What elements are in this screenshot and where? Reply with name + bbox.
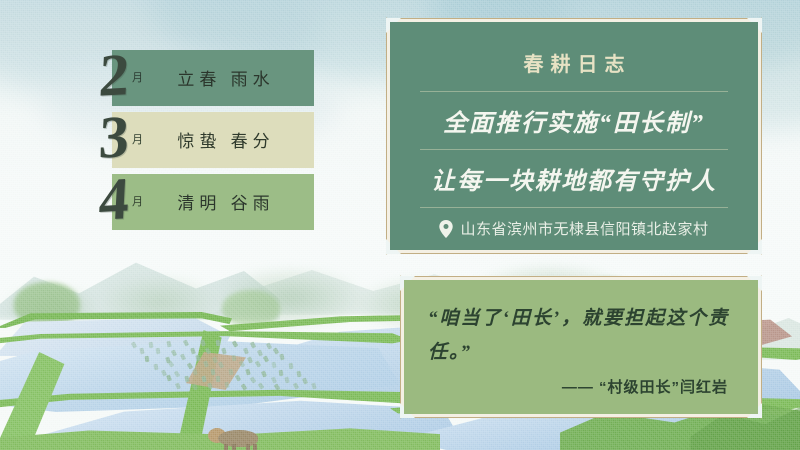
calendar-row[interactable]: 2 月 立春 雨水 xyxy=(84,50,314,106)
calendar-solar-terms: 清明 谷雨 xyxy=(168,189,284,214)
calendar-row[interactable]: 3 月 惊蛰 春分 xyxy=(84,112,314,168)
log-card-title: 春耕日志 xyxy=(418,48,730,77)
calendar-row[interactable]: 4 月 清明 谷雨 xyxy=(84,174,314,230)
ox-icon xyxy=(208,424,264,450)
poster-canvas: 2 月 立春 雨水 3 月 惊蛰 春分 4 月 清明 谷雨 春耕日志 xyxy=(0,0,800,450)
calendar-month-unit: 月 xyxy=(132,131,143,147)
calendar-month-unit: 月 xyxy=(132,193,143,209)
rice-seedlings xyxy=(130,340,310,396)
log-card-line-2: 让每一块耕地都有守护人 xyxy=(418,150,730,207)
log-card-inner: 春耕日志 全面推行实施“田长制” 让每一块耕地都有守护人 山东省滨州市无棣县信阳… xyxy=(390,22,758,250)
quote-card: “咱当了‘田长’，就要担起这个责任。” —— “村级田长”闫红岩 xyxy=(400,276,762,418)
quote-card-inner: “咱当了‘田长’，就要担起这个责任。” —— “村级田长”闫红岩 xyxy=(404,280,758,414)
quote-attribution: —— “村级田长”闫红岩 xyxy=(428,376,732,397)
log-card-location-text: 山东省滨州市无棣县信阳镇北赵家村 xyxy=(460,218,708,239)
quote-text: “咱当了‘田长’，就要担起这个责任。” xyxy=(428,302,732,370)
log-card-location-row: 山东省滨州市无棣县信阳镇北赵家村 xyxy=(418,208,730,243)
calendar-strip-list: 2 月 立春 雨水 3 月 惊蛰 春分 4 月 清明 谷雨 xyxy=(84,50,314,232)
map-pin-icon xyxy=(439,220,453,238)
calendar-solar-terms: 惊蛰 春分 xyxy=(168,127,284,152)
log-card-line-1: 全面推行实施“田长制” xyxy=(418,92,730,149)
log-card: 春耕日志 全面推行实施“田长制” 让每一块耕地都有守护人 山东省滨州市无棣县信阳… xyxy=(386,18,762,254)
calendar-month-unit: 月 xyxy=(132,69,143,85)
calendar-solar-terms: 立春 雨水 xyxy=(168,65,284,90)
